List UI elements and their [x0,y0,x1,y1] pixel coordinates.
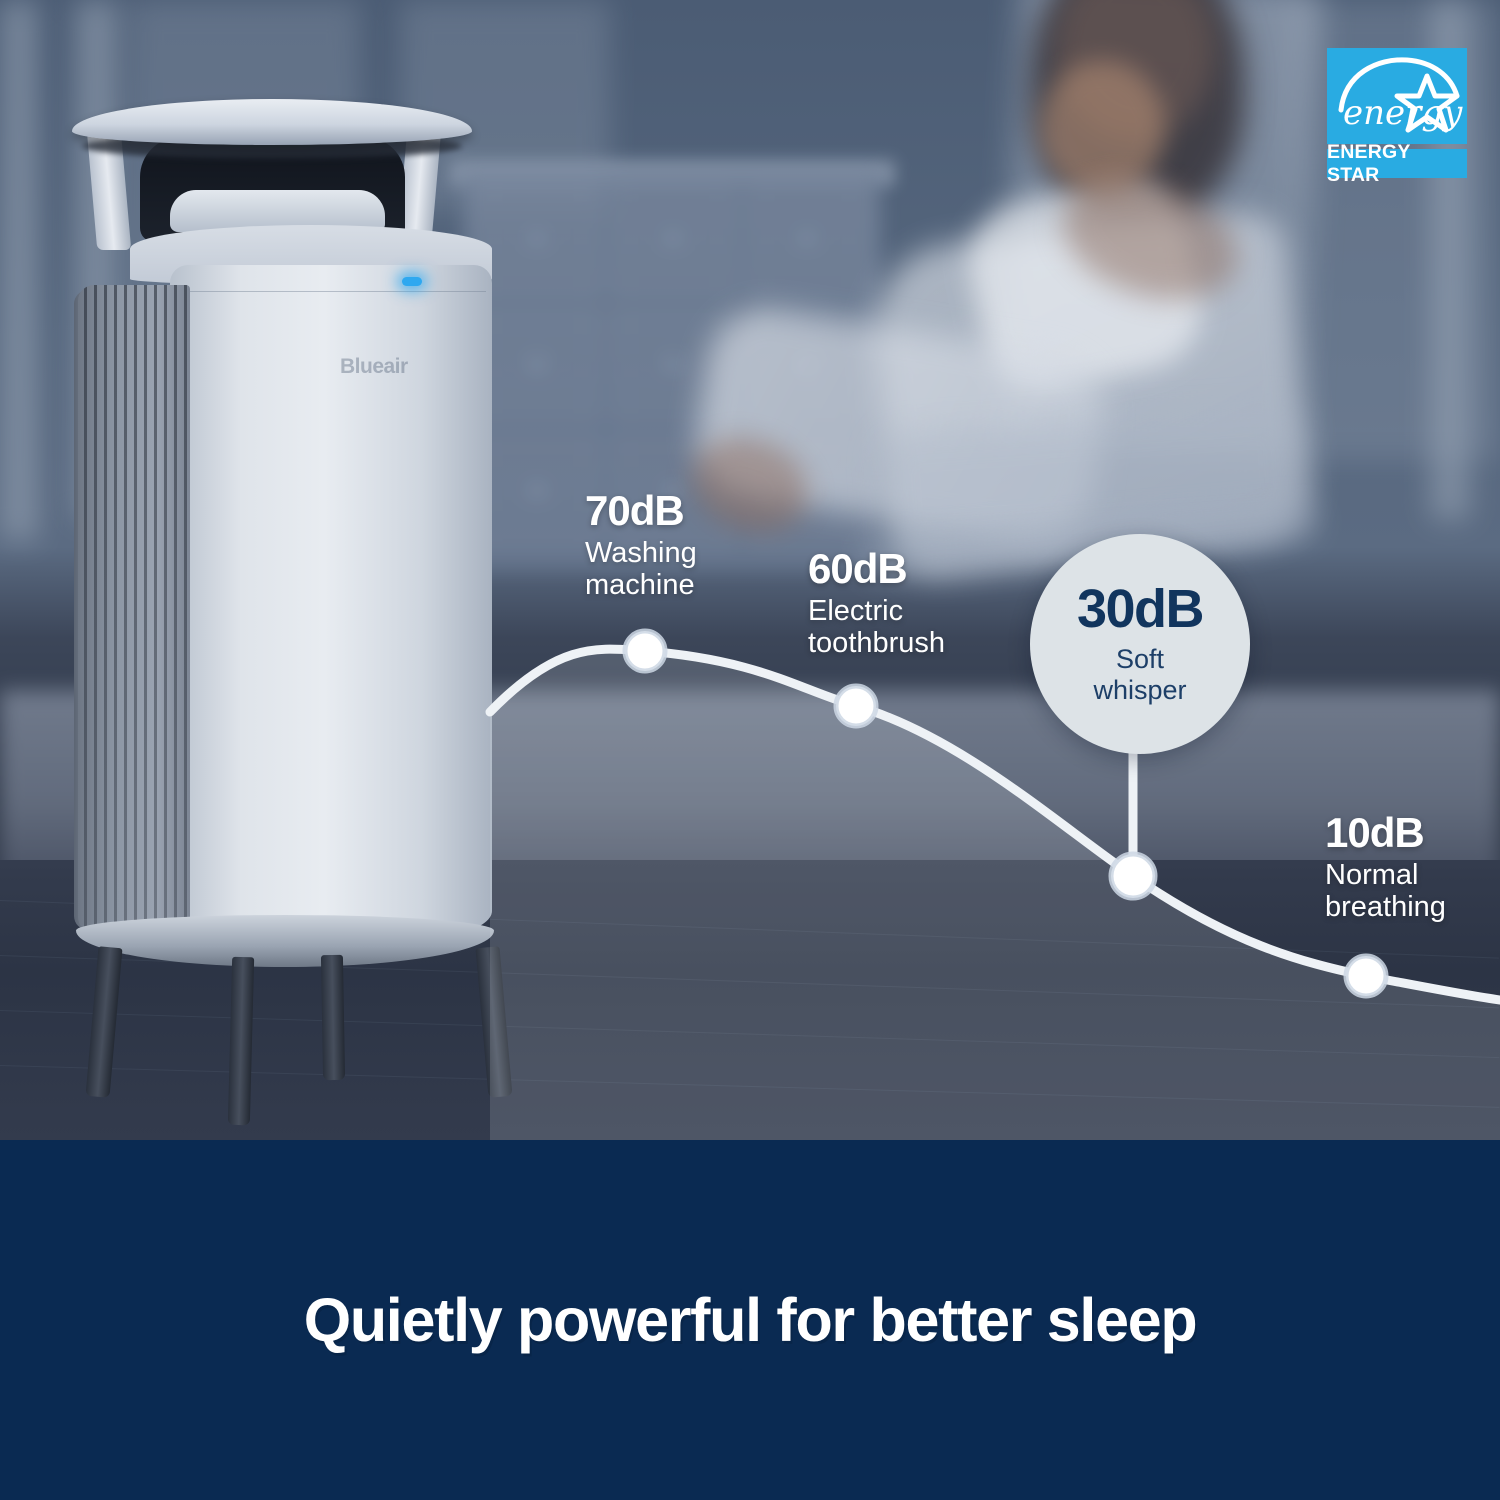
bubble-desc-line1: Soft [1116,644,1164,674]
svg-text:energy: energy [1343,93,1463,133]
label-60db-line2: toothbrush [808,627,945,659]
label-70db-desc: Washing machine [585,537,697,602]
label-10db-line1: Normal [1325,859,1418,891]
sound-level-curve [0,0,1500,1140]
label-60db-line1: Electric [808,595,903,627]
label-10db-desc: Normal breathing [1325,859,1446,924]
data-point-10db [1346,956,1386,996]
product-marketing-image: Blueair [0,0,1500,1500]
data-point-60db [836,686,876,726]
label-60db: 60dB Electric toothbrush [808,548,945,660]
label-10db-line2: breathing [1325,891,1446,923]
label-60db-value: 60dB [808,548,945,591]
label-60db-desc: Electric toothbrush [808,595,945,660]
bubble-desc-line2: whisper [1093,675,1186,705]
label-70db-line2: machine [585,569,695,601]
callout-bubble-30db: 30dB Soft whisper [1030,534,1250,754]
bubble-db-value: 30dB [1077,582,1203,636]
label-70db-value: 70dB [585,490,697,533]
energy-star-badge: energy ENERGY STAR [1327,48,1467,178]
headline-text: Quietly powerful for better sleep [304,1285,1197,1355]
energy-star-mark-icon: energy [1327,48,1467,144]
headline-band: Quietly powerful for better sleep [0,1140,1500,1500]
data-point-70db [625,631,665,671]
label-10db: 10dB Normal breathing [1325,812,1446,924]
data-point-30db [1111,854,1155,898]
bubble-desc: Soft whisper [1093,644,1186,706]
label-10db-value: 10dB [1325,812,1446,855]
label-70db-line1: Washing [585,537,697,569]
label-70db: 70dB Washing machine [585,490,697,602]
nursery-scene-photo: Blueair [0,0,1500,1140]
energy-star-wordmark: ENERGY STAR [1327,149,1467,178]
